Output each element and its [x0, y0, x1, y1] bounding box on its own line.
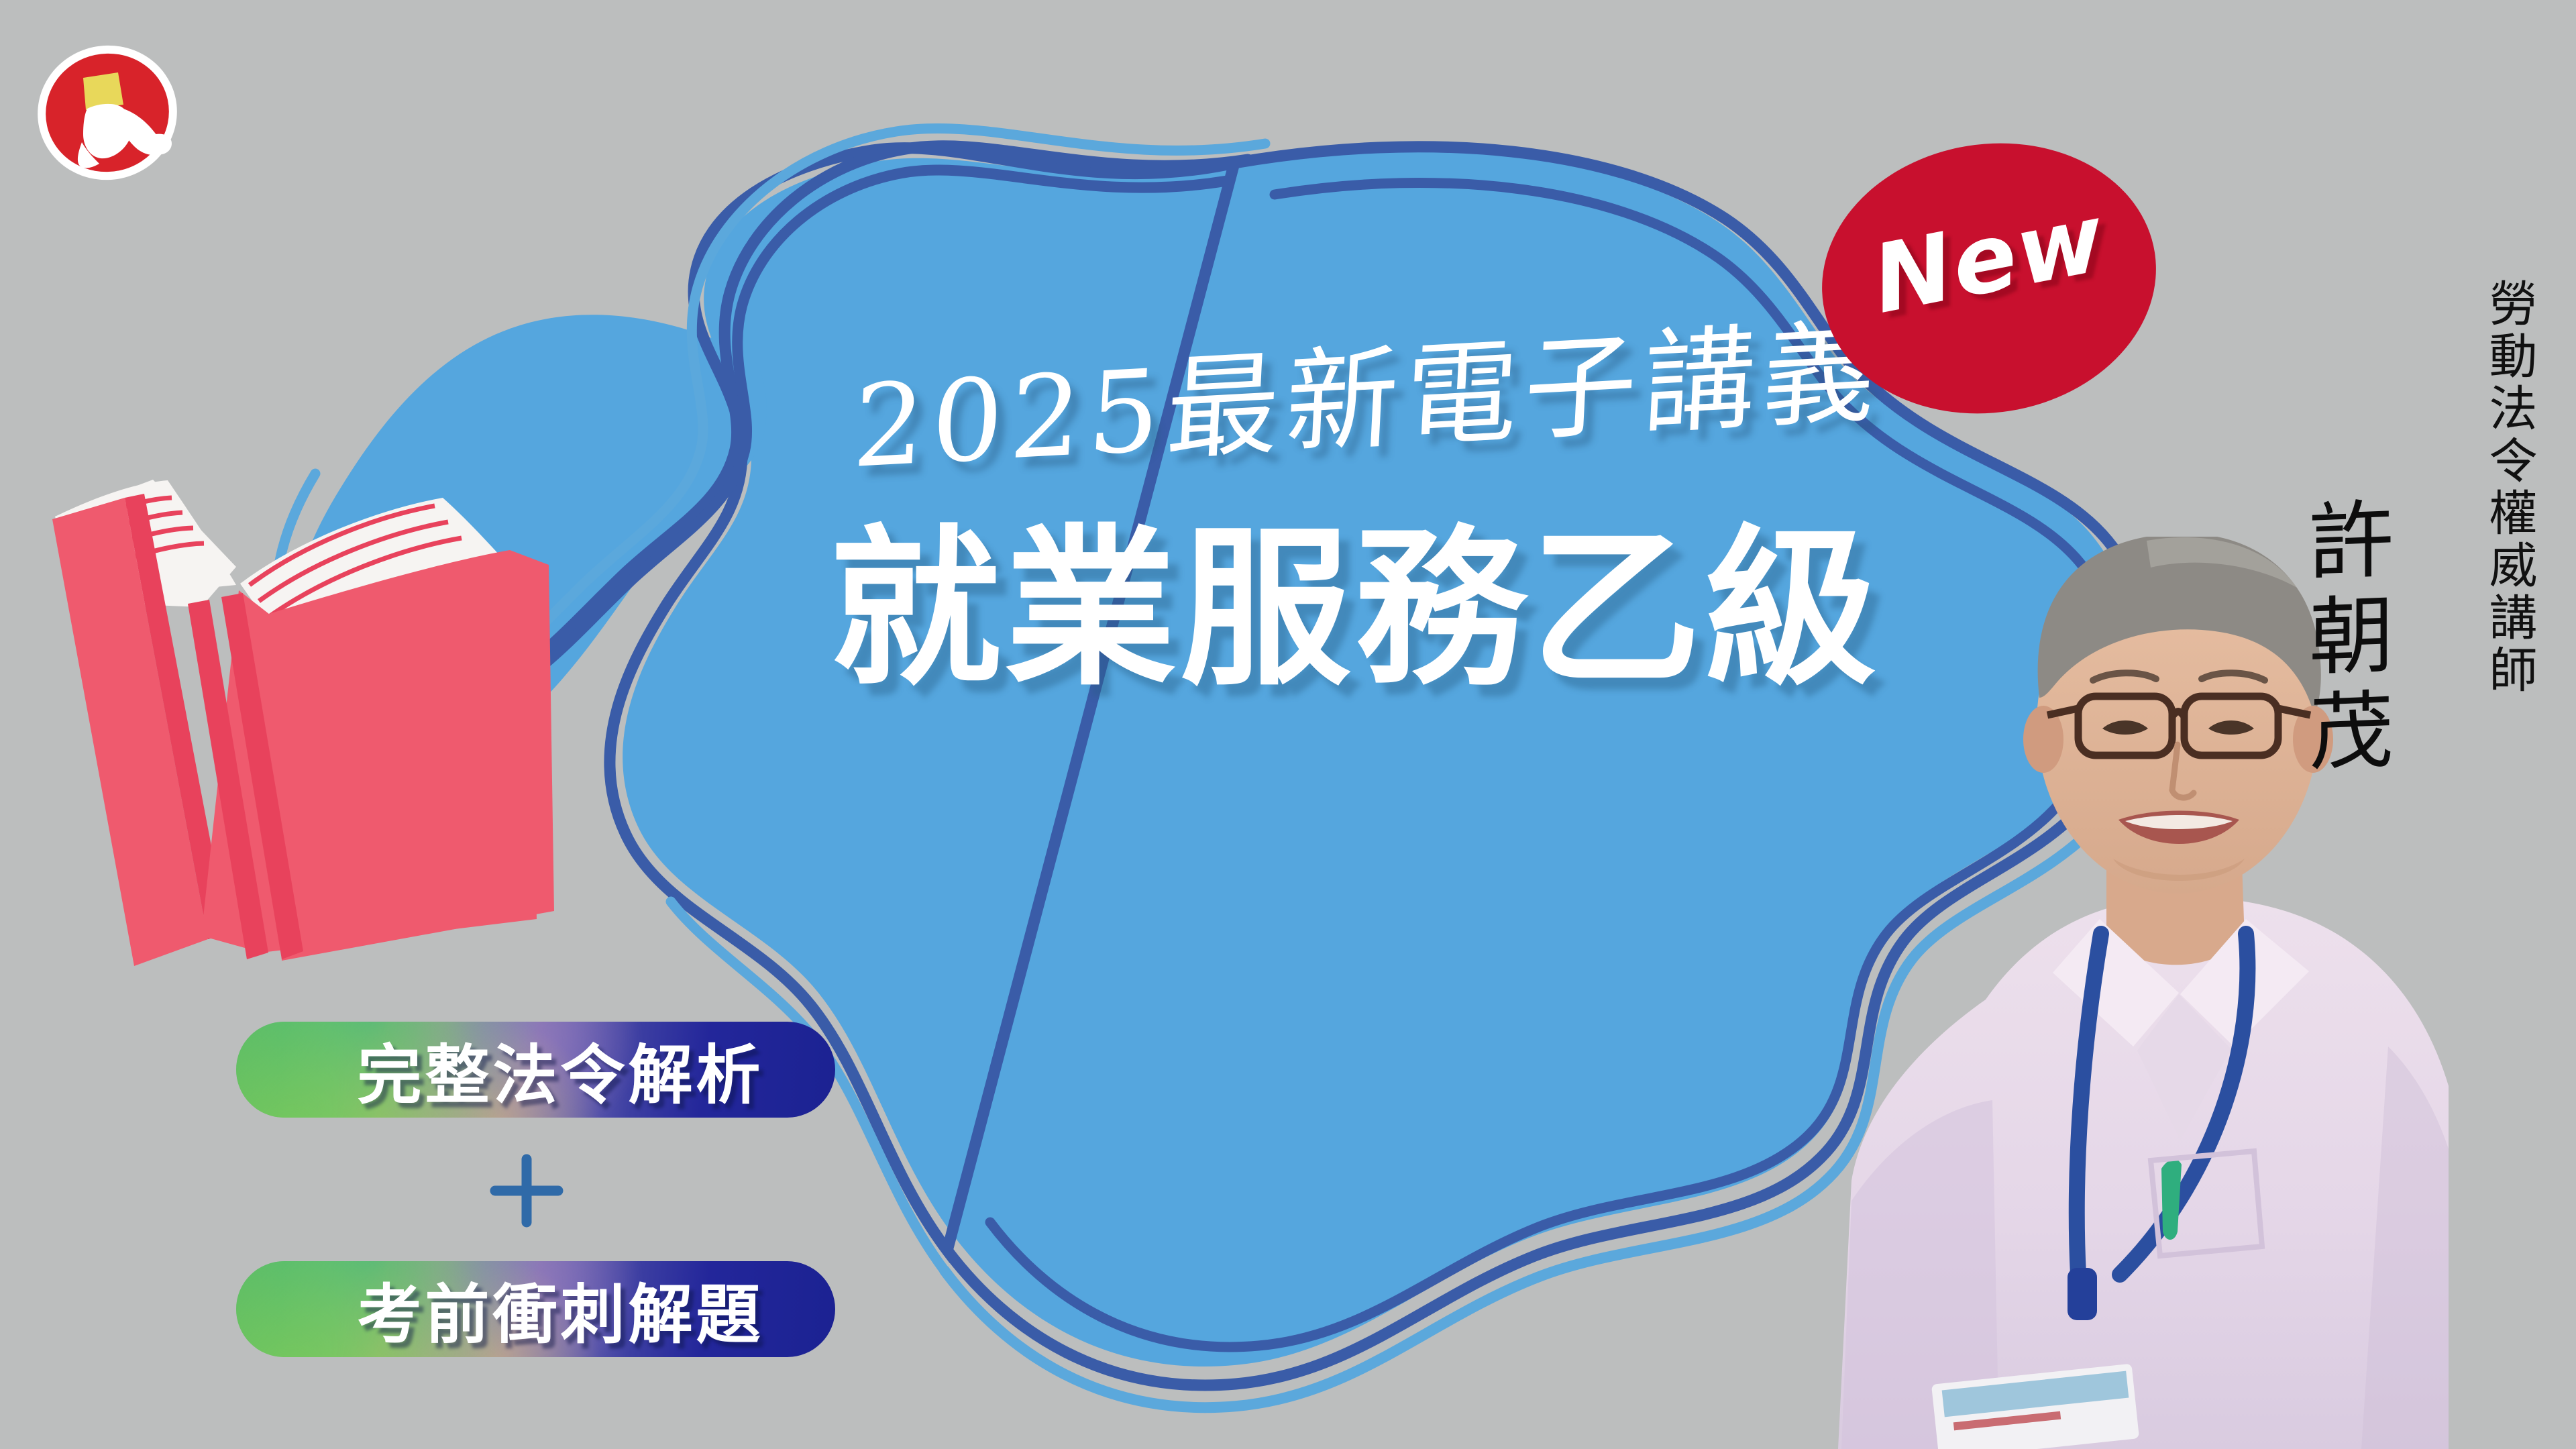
promo-banner: New 2025最新電子講義 就業服務乙級 勞動法令權威講師 許朝茂 完整法令解… [0, 0, 2576, 1449]
brand-logo-layer [0, 0, 2576, 1449]
running-leg-circle-logo[interactable] [25, 33, 189, 193]
